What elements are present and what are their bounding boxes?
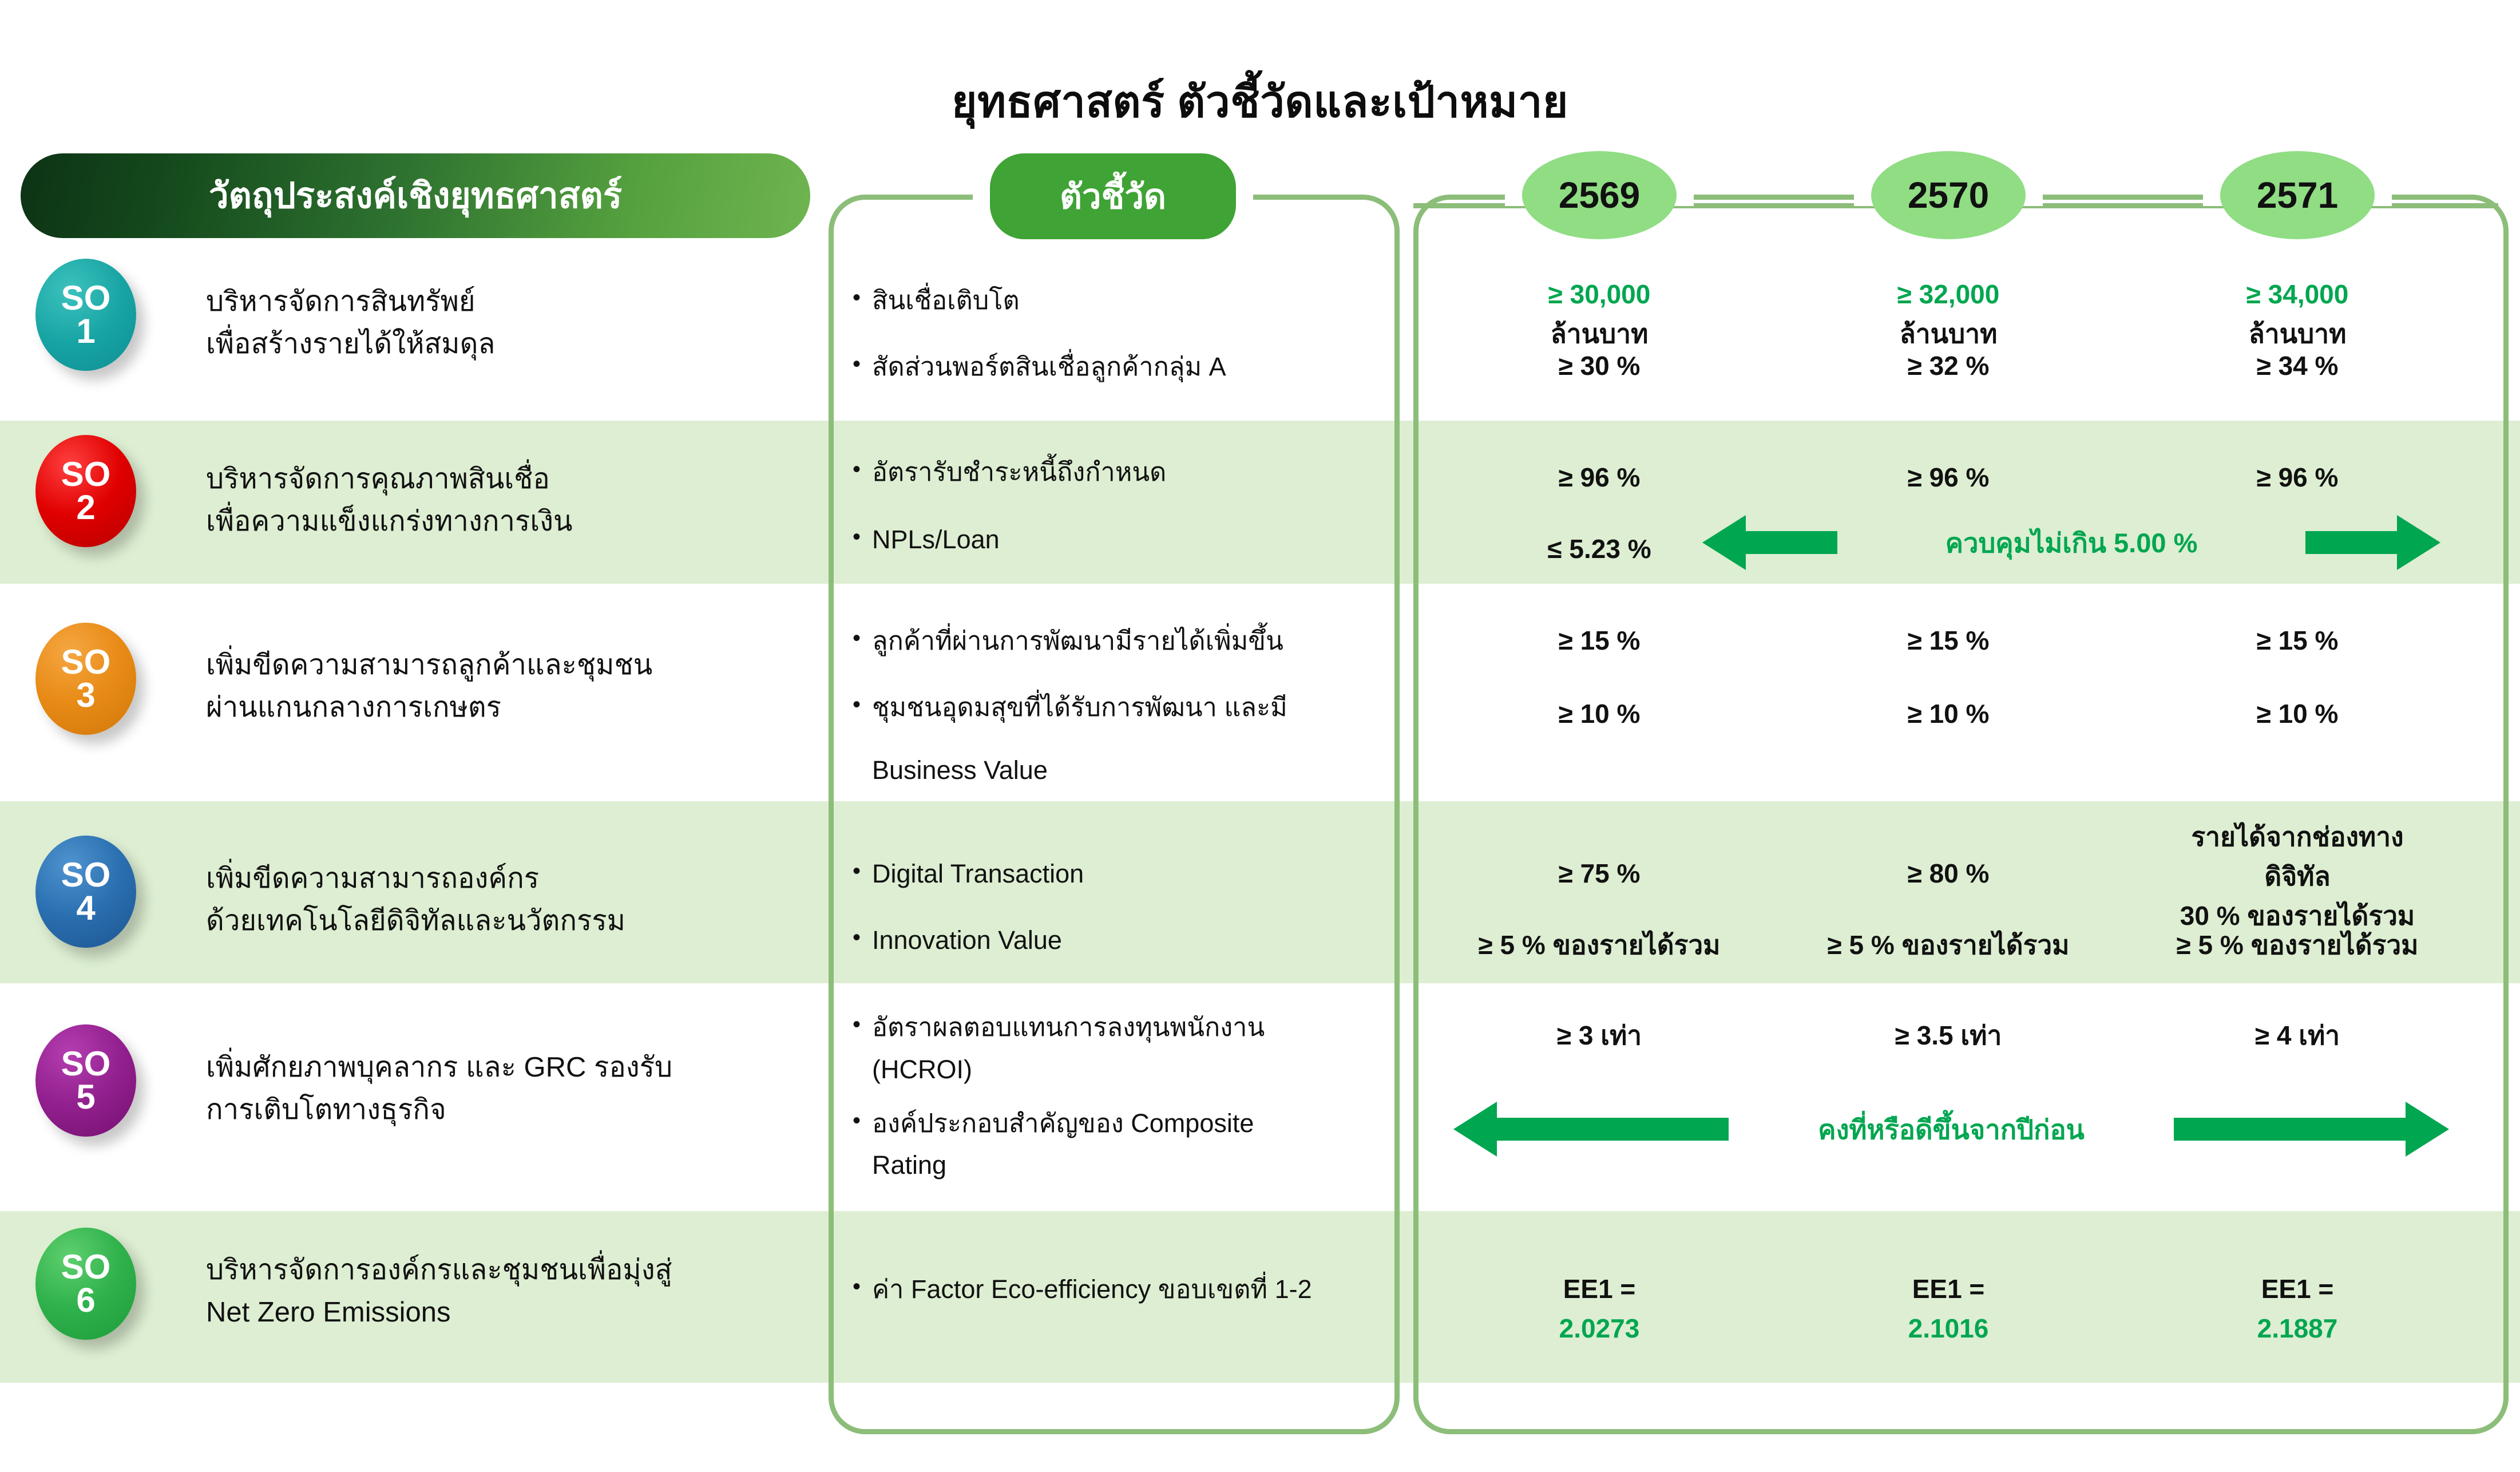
arrow-right-icon bbox=[2406, 1102, 2449, 1157]
indicator-3-0: ลูกค้าที่ผ่านการพัฒนามีรายได้เพิ่มขึ้น bbox=[872, 621, 1385, 661]
list-item: • องค์ประกอบสำคัญของ Composite bbox=[853, 1103, 1385, 1143]
value-so2-1-2569: ≤ 5.23 % bbox=[1522, 529, 1677, 569]
indicator-5-0-sub: (HCROI) bbox=[872, 1050, 1385, 1090]
indicator-cell-5: • อัตราผลตอบแทนการลงทุนพนักงาน (HCROI) •… bbox=[853, 1007, 1385, 1185]
so-badge-3-number: 3 bbox=[76, 679, 95, 712]
objective-text-2-line1: บริหารจัดการคุณภาพสินเชื่อ bbox=[206, 458, 795, 500]
value-so4-0-2571-line1: รายได้จากช่องทางดิจิทัล bbox=[2166, 817, 2429, 896]
indicator-3-1-continuation: Business Value bbox=[872, 750, 1385, 790]
bullet-icon: • bbox=[853, 452, 872, 492]
value-so1-1-2569: ≥ 30 % bbox=[1522, 346, 1677, 386]
so-badge-6-number: 6 bbox=[76, 1284, 95, 1317]
range-arrow-so5: คงที่หรือดีขึ้นจากปีก่อน bbox=[1453, 1102, 2449, 1157]
value-so5-0-2569: ≥ 3 เท่า bbox=[1522, 1016, 1677, 1055]
indicator-column-header: ตัวชี้วัด bbox=[990, 153, 1236, 239]
bullet-icon: • bbox=[853, 347, 872, 387]
bullet-icon: • bbox=[853, 280, 872, 320]
list-item: • อัตรารับชำระหนี้ถึงกำหนด bbox=[853, 452, 1385, 492]
indicator-cell-6: • ค่า Factor Eco-efficiency ขอบเขตที่ 1-… bbox=[853, 1269, 1385, 1324]
so-badge-6: SO 6 bbox=[35, 1228, 136, 1340]
bullet-icon: • bbox=[853, 1007, 872, 1047]
indicator-3-1: ชุมชนอุดมสุขที่ได้รับการพัฒนา และมี bbox=[872, 687, 1385, 727]
page-title: ยุทธศาสตร์ ตัวชี้วัดและเป้าหมาย bbox=[0, 68, 2520, 136]
value-so6-2569-number: 2.0273 bbox=[1559, 1313, 1640, 1343]
so-badge-3-label: SO bbox=[61, 646, 111, 679]
objective-text-4-line2: ด้วยเทคโนโลยีดิจิทัลและนวัตกรรม bbox=[206, 900, 795, 942]
year-header-2571-label: 2571 bbox=[2257, 174, 2338, 216]
list-item: • Innovation Value bbox=[853, 920, 1385, 960]
year-header-2570: 2570 bbox=[1871, 151, 2026, 239]
value-so6-2569: EE1 = 2.0273 bbox=[1522, 1269, 1677, 1348]
value-so5-0-2571: ≥ 4 เท่า bbox=[2220, 1016, 2375, 1055]
objective-text-5-line1: เพิ่มศักยภาพบุคลากร และ GRC รองรับ bbox=[206, 1046, 795, 1089]
value-so4-0-2569: ≥ 75 % bbox=[1522, 854, 1677, 893]
value-so3-0-2570: ≥ 15 % bbox=[1871, 621, 2026, 660]
list-item: • ค่า Factor Eco-efficiency ขอบเขตที่ 1-… bbox=[853, 1269, 1385, 1309]
value-so1-0-2570: ≥ 32,000 ล้านบาท bbox=[1871, 275, 2026, 354]
value-so2-0-2569: ≥ 96 % bbox=[1522, 458, 1677, 497]
value-so4-1-2571: ≥ 5 % ของรายได้รวม bbox=[2166, 925, 2429, 965]
objective-text-3-line2: ผ่านแกนกลางการเกษตร bbox=[206, 686, 795, 729]
objective-text-5-line2: การเติบโตทางธุรกิจ bbox=[206, 1089, 795, 1131]
value-so1-0-2571: ≥ 34,000 ล้านบาท bbox=[2220, 275, 2375, 354]
list-item: • Digital Transaction bbox=[853, 854, 1385, 894]
value-so1-0-2570-unit: ล้านบาท bbox=[1900, 319, 1998, 349]
objective-text-3-line1: เพิ่มขีดความสามารถลูกค้าและชุมชน bbox=[206, 644, 795, 686]
so-badge-5-number: 5 bbox=[76, 1081, 95, 1114]
indicator-1-1: สัดส่วนพอร์ตสินเชื่อลูกค้ากลุ่ม A bbox=[872, 347, 1385, 387]
value-so6-2571-prefix: EE1 = bbox=[2261, 1274, 2334, 1304]
so-badge-2-label: SO bbox=[61, 458, 111, 491]
bullet-icon: • bbox=[853, 920, 872, 960]
bullet-icon: • bbox=[853, 854, 872, 894]
value-so1-0-2569-unit: ล้านบาท bbox=[1551, 319, 1649, 349]
objective-text-3: เพิ่มขีดความสามารถลูกค้าและชุมชน ผ่านแกน… bbox=[206, 644, 795, 729]
value-so3-1-2570: ≥ 10 % bbox=[1871, 694, 2026, 734]
so-badge-1-label: SO bbox=[61, 282, 111, 315]
value-so6-2570: EE1 = 2.1016 bbox=[1871, 1269, 2026, 1348]
bullet-icon: • bbox=[853, 1103, 872, 1143]
indicator-4-0: Digital Transaction bbox=[872, 854, 1385, 894]
objective-text-1-line2: เพื่อสร้างรายได้ให้สมดุล bbox=[206, 323, 795, 365]
indicator-5-1: องค์ประกอบสำคัญของ Composite bbox=[872, 1103, 1385, 1143]
arrow-shaft-right bbox=[2174, 1118, 2406, 1141]
year-header-2569: 2569 bbox=[1522, 151, 1677, 239]
so-badge-4-label: SO bbox=[61, 858, 111, 892]
value-so1-1-2570: ≥ 32 % bbox=[1871, 346, 2026, 386]
value-so3-0-2569: ≥ 15 % bbox=[1522, 621, 1677, 660]
list-item: • ชุมชนอุดมสุขที่ได้รับการพัฒนา และมี bbox=[853, 687, 1385, 727]
indicator-4-1: Innovation Value bbox=[872, 920, 1385, 960]
objective-text-6-line2: Net Zero Emissions bbox=[206, 1291, 795, 1333]
list-item: • NPLs/Loan bbox=[853, 520, 1385, 560]
objective-text-2: บริหารจัดการคุณภาพสินเชื่อ เพื่อความแข็ง… bbox=[206, 458, 795, 543]
so-badge-2-number: 2 bbox=[76, 491, 95, 524]
arrow-left-icon bbox=[1702, 515, 1746, 570]
objective-text-6: บริหารจัดการองค์กรและชุมชนเพื่อมุ่งสู่ N… bbox=[206, 1249, 795, 1334]
value-so2-0-2570: ≥ 96 % bbox=[1871, 458, 2026, 497]
indicator-cell-3: • ลูกค้าที่ผ่านการพัฒนามีรายได้เพิ่มขึ้น… bbox=[853, 621, 1385, 790]
indicator-5-0: อัตราผลตอบแทนการลงทุนพนักงาน bbox=[872, 1007, 1385, 1047]
indicator-cell-1: • สินเชื่อเติบโต • สัดส่วนพอร์ตสินเชื่อล… bbox=[853, 280, 1385, 402]
arrow-right-icon bbox=[2397, 515, 2440, 570]
list-item: • ลูกค้าที่ผ่านการพัฒนามีรายได้เพิ่มขึ้น bbox=[853, 621, 1385, 661]
list-item: • สัดส่วนพอร์ตสินเชื่อลูกค้ากลุ่ม A bbox=[853, 347, 1385, 387]
objective-text-1: บริหารจัดการสินทรัพย์ เพื่อสร้างรายได้ให… bbox=[206, 280, 795, 366]
objective-text-5: เพิ่มศักยภาพบุคลากร และ GRC รองรับ การเต… bbox=[206, 1046, 795, 1131]
list-item: • อัตราผลตอบแทนการลงทุนพนักงาน bbox=[853, 1007, 1385, 1047]
year-header-2569-label: 2569 bbox=[1559, 174, 1640, 216]
value-so1-1-2571: ≥ 34 % bbox=[2220, 346, 2375, 386]
value-so6-2570-prefix: EE1 = bbox=[1912, 1274, 1985, 1304]
objective-header-label: วัตถุประสงค์เชิงยุทธศาสตร์ bbox=[209, 168, 622, 224]
indicator-2-1: NPLs/Loan bbox=[872, 520, 1385, 560]
value-so5-0-2570: ≥ 3.5 เท่า bbox=[1871, 1016, 2026, 1055]
value-so3-1-2571: ≥ 10 % bbox=[2220, 694, 2375, 734]
value-so4-0-2570: ≥ 80 % bbox=[1871, 854, 2026, 893]
value-so1-0-2571-unit: ล้านบาท bbox=[2249, 319, 2347, 349]
value-so3-1-2569: ≥ 10 % bbox=[1522, 694, 1677, 734]
value-so1-0-2569: ≥ 30,000 ล้านบาท bbox=[1522, 275, 1677, 354]
so-badge-1: SO 1 bbox=[35, 259, 136, 371]
value-so2-0-2571: ≥ 96 % bbox=[2220, 458, 2375, 497]
year-header-2570-label: 2570 bbox=[1908, 174, 1989, 216]
range-arrow-so2: ควบคุมไม่เกิน 5.00 % bbox=[1702, 515, 2440, 570]
arrow-shaft-left bbox=[1497, 1118, 1729, 1141]
value-so6-2571: EE1 = 2.1887 bbox=[2220, 1269, 2375, 1348]
bullet-icon: • bbox=[853, 520, 872, 560]
indicator-6-0: ค่า Factor Eco-efficiency ขอบเขตที่ 1-2 bbox=[872, 1269, 1385, 1309]
bullet-icon: • bbox=[853, 621, 872, 661]
so-badge-1-number: 1 bbox=[76, 315, 95, 348]
so-badge-3: SO 3 bbox=[35, 623, 136, 735]
value-so6-2569-prefix: EE1 = bbox=[1563, 1274, 1636, 1304]
indicator-2-0: อัตรารับชำระหนี้ถึงกำหนด bbox=[872, 452, 1385, 492]
arrow-left-icon bbox=[1453, 1102, 1497, 1157]
bullet-icon: • bbox=[853, 687, 872, 727]
objective-text-4: เพิ่มขีดความสามารถองค์กร ด้วยเทคโนโลยีดิ… bbox=[206, 857, 795, 943]
arrow-shaft-right bbox=[2305, 531, 2397, 554]
so-badge-5: SO 5 bbox=[35, 1024, 136, 1137]
indicator-cell-2: • อัตรารับชำระหนี้ถึงกำหนด • NPLs/Loan bbox=[853, 452, 1385, 575]
value-so4-1-2570: ≥ 5 % ของรายได้รวม bbox=[1817, 925, 2080, 965]
so-badge-5-label: SO bbox=[61, 1047, 111, 1081]
value-so4-1-2569: ≥ 5 % ของรายได้รวม bbox=[1468, 925, 1731, 965]
value-so1-0-2569-number: ≥ 30,000 bbox=[1548, 279, 1651, 309]
arrow-shaft-left bbox=[1746, 531, 1837, 554]
indicator-5-1-sub: Rating bbox=[872, 1145, 1385, 1185]
value-so3-0-2571: ≥ 15 % bbox=[2220, 621, 2375, 660]
year-header-2571: 2571 bbox=[2220, 151, 2375, 239]
range-arrow-so2-label: ควบคุมไม่เกิน 5.00 % bbox=[1837, 521, 2305, 564]
objective-text-1-line1: บริหารจัดการสินทรัพย์ bbox=[206, 280, 795, 323]
list-item: • สินเชื่อเติบโต bbox=[853, 280, 1385, 320]
so-badge-4-number: 4 bbox=[76, 892, 95, 925]
so-badge-4: SO 4 bbox=[35, 836, 136, 948]
value-so6-2571-number: 2.1887 bbox=[2257, 1313, 2338, 1343]
so-badge-6-label: SO bbox=[61, 1251, 111, 1284]
bullet-icon: • bbox=[853, 1269, 872, 1309]
objective-text-2-line2: เพื่อความแข็งแกร่งทางการเงิน bbox=[206, 500, 795, 543]
so-badge-2: SO 2 bbox=[35, 435, 136, 547]
value-so1-0-2570-number: ≥ 32,000 bbox=[1897, 279, 2000, 309]
indicator-cell-4: • Digital Transaction • Innovation Value bbox=[853, 854, 1385, 975]
value-so4-0-2571: รายได้จากช่องทางดิจิทัล 30 % ของรายได้รว… bbox=[2166, 817, 2429, 936]
indicator-header-label: ตัวชี้วัด bbox=[1060, 169, 1166, 224]
value-so6-2570-number: 2.1016 bbox=[1908, 1313, 1989, 1343]
value-so1-0-2571-number: ≥ 34,000 bbox=[2246, 279, 2349, 309]
objective-text-4-line1: เพิ่มขีดความสามารถองค์กร bbox=[206, 857, 795, 900]
objective-text-6-line1: บริหารจัดการองค์กรและชุมชนเพื่อมุ่งสู่ bbox=[206, 1249, 795, 1291]
range-arrow-so5-label: คงที่หรือดีขึ้นจากปีก่อน bbox=[1729, 1108, 2174, 1151]
indicator-1-0: สินเชื่อเติบโต bbox=[872, 280, 1385, 320]
objective-column-header: วัตถุประสงค์เชิงยุทธศาสตร์ bbox=[21, 153, 810, 238]
